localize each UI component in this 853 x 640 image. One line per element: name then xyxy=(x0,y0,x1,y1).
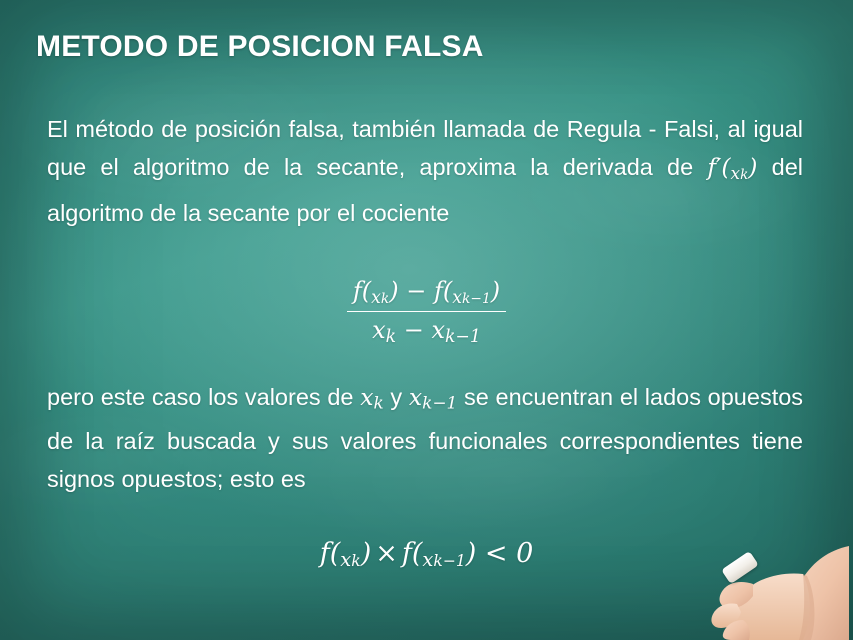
inline-math-derivative: f′(xk) xyxy=(707,153,757,181)
paragraph-explanation: pero este caso los valores de xk y xk−1 … xyxy=(47,378,803,498)
paragraph-intro-line1: El método de posición falsa, también lla… xyxy=(47,116,559,142)
paragraph-intro-line4: algoritmo de la secante por el cociente xyxy=(47,200,449,226)
inline-math-xk: xk xyxy=(360,383,384,411)
paragraph-intro-line3-post: del xyxy=(772,154,803,180)
fraction-denominator: xk − xk−1 xyxy=(347,312,506,348)
fraction-block: f(xk) − f(xk−1) xk − xk−1 xyxy=(0,276,853,349)
multiplication-operator: × xyxy=(371,538,402,569)
paragraph-intro-line3-pre: secante, aproxima la derivada de xyxy=(316,154,693,180)
paragraph-explanation-line1-mid: y xyxy=(390,384,402,410)
paragraph-intro: El método de posición falsa, también lla… xyxy=(47,110,803,232)
page-title: METODO DE POSICION FALSA xyxy=(36,30,484,64)
paragraph-explanation-line3: sus valores funcionales correspondientes… xyxy=(292,428,803,454)
hand-holding-chalk-icon xyxy=(653,510,853,640)
slide-canvas: METODO DE POSICION FALSA El método de po… xyxy=(0,0,853,640)
difference-quotient: f(xk) − f(xk−1) xk − xk−1 xyxy=(347,276,506,349)
equation-relation: < 0 xyxy=(485,538,533,569)
paragraph-explanation-line1-post: se xyxy=(464,384,489,410)
paragraph-explanation-line4: signos opuestos; esto es xyxy=(47,466,306,492)
equation-middle-term: f(xk−1) xyxy=(402,538,476,569)
paragraph-explanation-line1-pre: pero este caso los valores de xyxy=(47,384,353,410)
fraction-numerator: f(xk) − f(xk−1) xyxy=(347,276,506,312)
equation-left-term: f(xk) xyxy=(320,538,371,569)
inline-math-xk-1: xk−1 xyxy=(409,383,457,411)
